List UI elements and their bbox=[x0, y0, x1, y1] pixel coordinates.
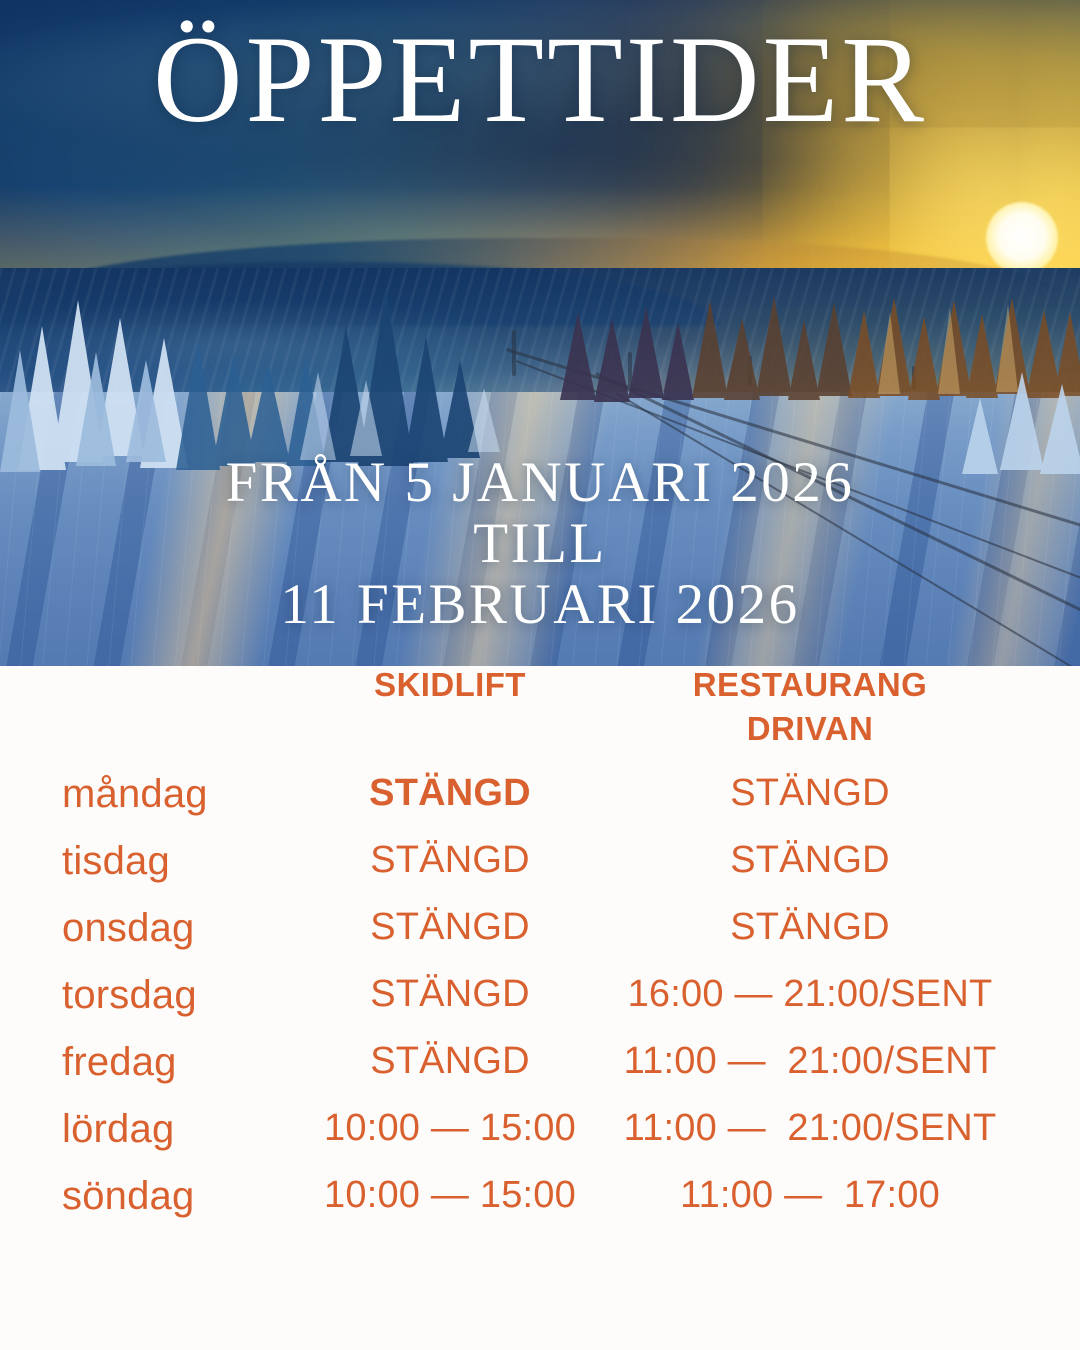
day-label-söndag: söndag bbox=[0, 1174, 300, 1241]
cell-restaurang-tisdag: STÄNGD bbox=[600, 839, 1020, 906]
column-subheader-spacer-days bbox=[0, 710, 300, 772]
date-line-1: FRÅN 5 JANUARI 2026 bbox=[0, 452, 1080, 513]
opening-hours-table: SKIDLIFTRESTAURANGDRIVANmåndagSTÄNGDSTÄN… bbox=[0, 666, 1080, 1241]
column-header-days bbox=[0, 666, 300, 710]
cell-skidlift-tisdag: STÄNGD bbox=[300, 839, 600, 906]
day-label-torsdag: torsdag bbox=[0, 973, 300, 1040]
cell-skidlift-söndag: 10:00 — 15:00 bbox=[300, 1174, 600, 1241]
day-label-fredag: fredag bbox=[0, 1040, 300, 1107]
date-line-3: 11 FEBRUARI 2026 bbox=[0, 574, 1080, 635]
column-header-restaurang: RESTAURANG bbox=[600, 666, 1020, 710]
cell-restaurang-onsdag: STÄNGD bbox=[600, 906, 1020, 973]
cell-restaurang-måndag: STÄNGD bbox=[600, 772, 1020, 839]
day-label-måndag: måndag bbox=[0, 772, 300, 839]
date-range: FRÅN 5 JANUARI 2026 TILL 11 FEBRUARI 202… bbox=[0, 452, 1080, 635]
cell-skidlift-onsdag: STÄNGD bbox=[300, 906, 600, 973]
column-header-restaurang-line2: DRIVAN bbox=[600, 710, 1020, 772]
hero-photo: ÖPPETTIDER FRÅN 5 JANUARI 2026 TILL 11 F… bbox=[0, 0, 1080, 666]
column-subheader-spacer-skidlift bbox=[300, 710, 600, 772]
date-line-2: TILL bbox=[0, 513, 1080, 574]
poster: ÖPPETTIDER FRÅN 5 JANUARI 2026 TILL 11 F… bbox=[0, 0, 1080, 1350]
cell-skidlift-lördag: 10:00 — 15:00 bbox=[300, 1107, 600, 1174]
schedule-section: SKIDLIFTRESTAURANGDRIVANmåndagSTÄNGDSTÄN… bbox=[0, 666, 1080, 1350]
column-header-skidlift: SKIDLIFT bbox=[300, 666, 600, 710]
cell-restaurang-torsdag: 16:00 — 21:00/SENT bbox=[600, 973, 1020, 1040]
cell-restaurang-fredag: 11:00 — 21:00/SENT bbox=[600, 1040, 1020, 1107]
day-label-onsdag: onsdag bbox=[0, 906, 300, 973]
cell-skidlift-torsdag: STÄNGD bbox=[300, 973, 600, 1040]
cell-skidlift-måndag: STÄNGD bbox=[300, 772, 600, 839]
cell-restaurang-söndag: 11:00 — 17:00 bbox=[600, 1174, 1020, 1241]
cell-skidlift-fredag: STÄNGD bbox=[300, 1040, 600, 1107]
page-title: ÖPPETTIDER bbox=[0, 14, 1080, 145]
cell-restaurang-lördag: 11:00 — 21:00/SENT bbox=[600, 1107, 1020, 1174]
day-label-lördag: lördag bbox=[0, 1107, 300, 1174]
day-label-tisdag: tisdag bbox=[0, 839, 300, 906]
